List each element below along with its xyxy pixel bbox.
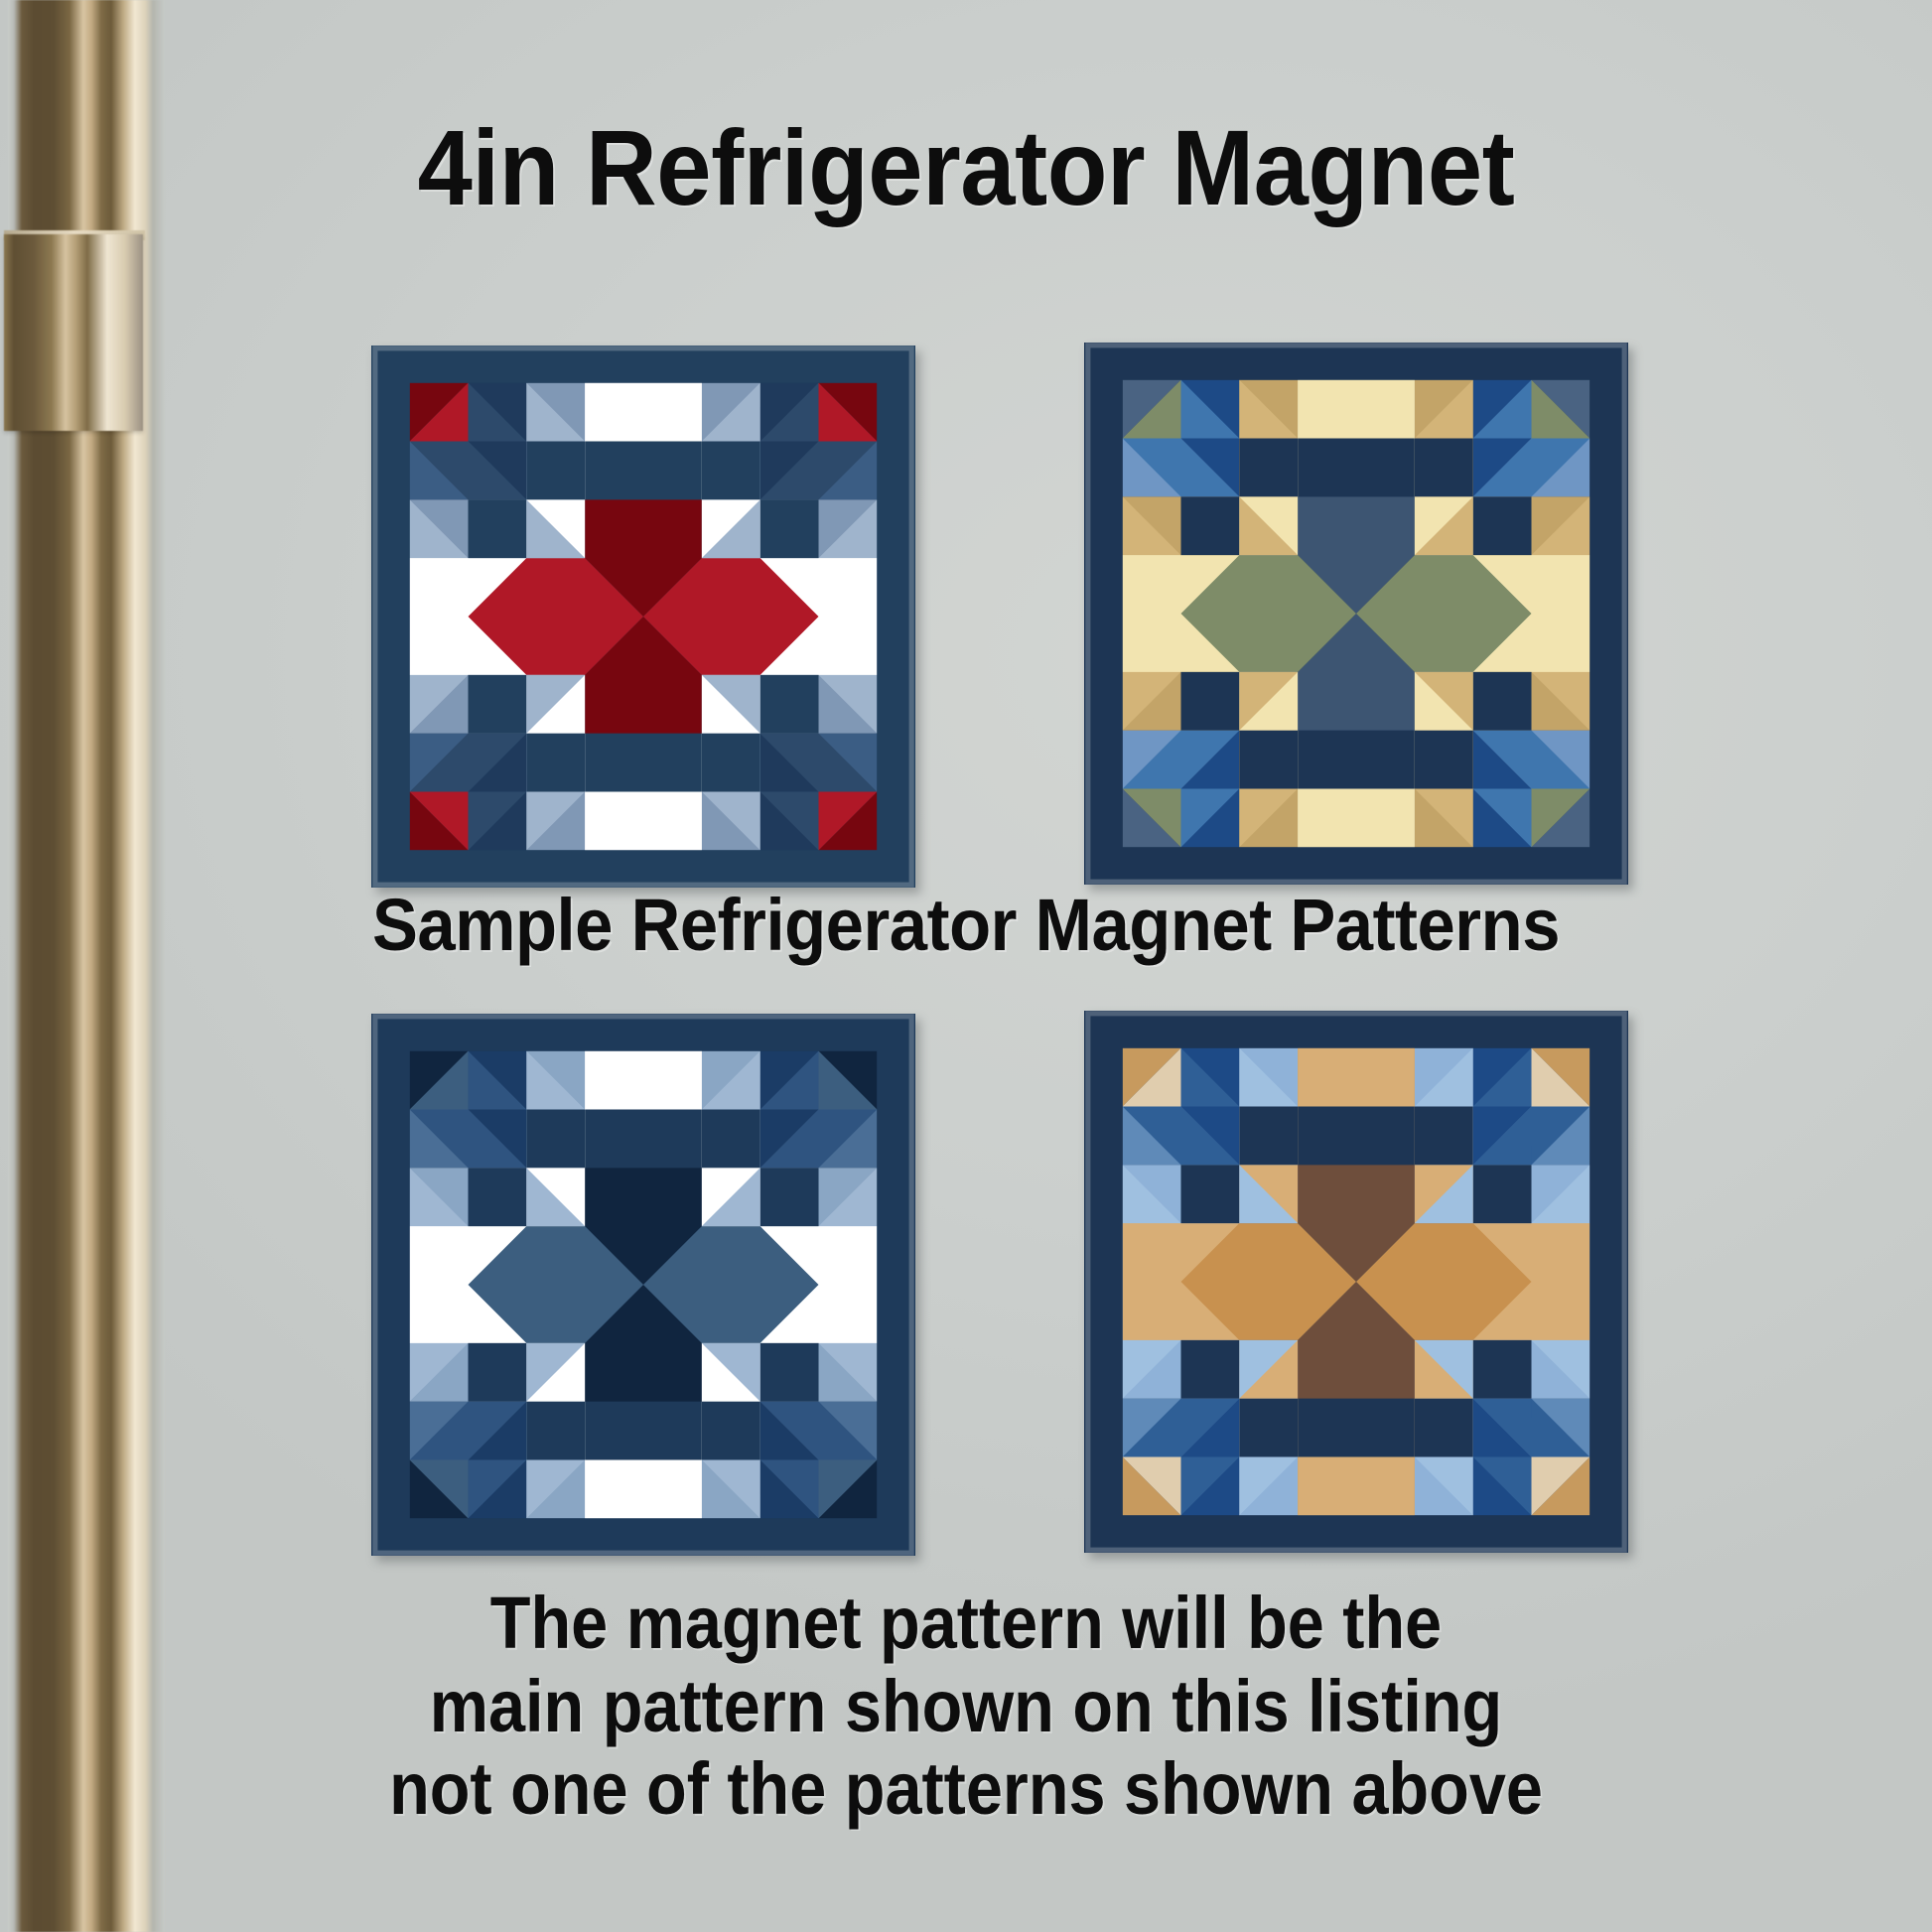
quilt-block-blue-white[interactable] <box>371 1014 915 1556</box>
disclaimer-line-2: main pattern shown on this listing <box>96 1665 1835 1748</box>
page-title: 4in Refrigerator Magnet <box>77 114 1855 221</box>
disclaimer-line-1: The magnet pattern will be the <box>96 1582 1835 1665</box>
disclaimer-line-3: not one of the patterns shown above <box>96 1747 1835 1831</box>
quilt-block-tan-brown[interactable] <box>1084 1011 1628 1553</box>
brass-handle-cap <box>4 234 143 431</box>
disclaimer-text: The magnet pattern will be the main patt… <box>96 1582 1835 1831</box>
quilt-block-red-white-blue[interactable] <box>371 345 915 888</box>
sample-patterns-caption: Sample Refrigerator Magnet Patterns <box>68 889 1864 962</box>
quilt-block-cream-sage[interactable] <box>1084 343 1628 885</box>
product-image-canvas: 4in Refrigerator Magnet Sample Refrigera… <box>0 0 1932 1932</box>
